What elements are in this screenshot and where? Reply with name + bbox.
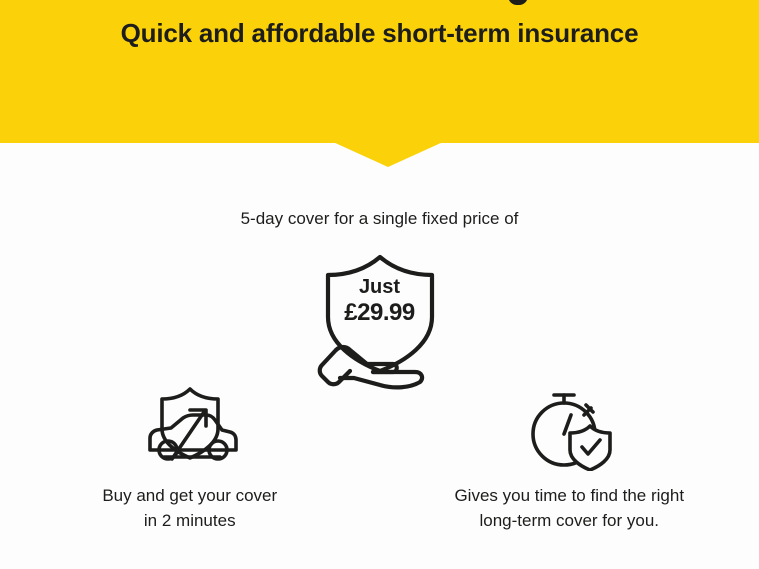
feature-caption: Buy and get your cover in 2 minutes: [102, 483, 277, 533]
feature-icon-wrapper: [522, 381, 616, 473]
price-badge: Just £29.99: [310, 251, 450, 391]
feature-icon-wrapper: [138, 381, 242, 473]
feature-item-quick-purchase: Buy and get your cover in 2 minutes: [0, 381, 380, 533]
feature-list: Buy and get your cover in 2 minutes: [0, 381, 759, 533]
stopwatch-shield-check-icon: [522, 383, 616, 471]
main-content: 5-day cover for a single fixed price of …: [0, 143, 759, 569]
hero-subtitle: Quick and affordable short-term insuranc…: [0, 18, 759, 49]
car-shield-arrow-icon: [138, 383, 242, 471]
shield-in-hand-icon: [310, 251, 450, 391]
feature-caption: Gives you time to find the right long-te…: [454, 483, 684, 533]
feature-item-time-to-find-cover: Gives you time to find the right long-te…: [380, 381, 759, 533]
price-lead-text: 5-day cover for a single fixed price of: [0, 209, 759, 229]
